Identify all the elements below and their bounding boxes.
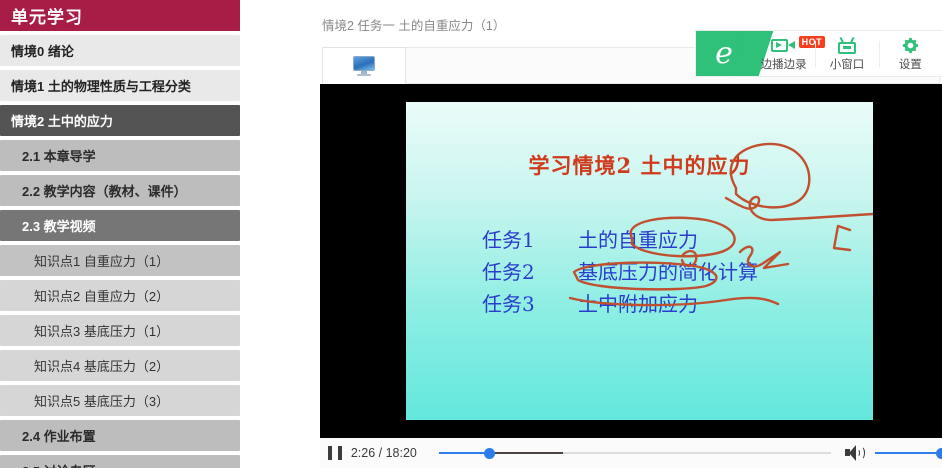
time-display: 2:26 / 18:20	[351, 446, 417, 460]
browser-brand-logo[interactable]: e	[696, 31, 752, 76]
slide-task-number: 任务3	[482, 288, 578, 320]
sidebar-item-3[interactable]: 2.1 本章导学	[0, 140, 240, 171]
toolbar-label-settings: 设置	[899, 56, 922, 72]
progress-buffer	[489, 452, 563, 454]
sidebar-item-label: 知识点1 自重应力（1）	[34, 251, 169, 270]
sidebar-item-0[interactable]: 情境0 绪论	[0, 35, 240, 66]
toolbar-item-settings[interactable]: 设置	[879, 31, 942, 76]
toolbar-item-mini-window[interactable]: 小窗口	[815, 31, 878, 76]
sidebar-item-label: 情境2 土中的应力	[11, 111, 113, 130]
sidebar-item-8[interactable]: 知识点3 基底压力（1）	[0, 315, 240, 346]
slide-task-row: 任务3土中附加应力	[482, 288, 758, 320]
video-player-stage[interactable]: 学习情境2 土中的应力 任务1土的自重应力任务2基底压力的简化计算任务3土中附加…	[320, 84, 942, 438]
sidebar-item-label: 2.3 教学视频	[22, 216, 96, 235]
sidebar-item-label: 知识点4 基底压力（2）	[34, 356, 169, 375]
breadcrumb: 情境2 任务一 土的自重应力（1）	[322, 15, 505, 34]
video-camera-icon: HOT	[771, 37, 797, 54]
sidebar-item-12[interactable]: 2.5 讨论专区	[0, 455, 240, 468]
sidebar-item-label: 情境0 绪论	[11, 41, 74, 60]
tab-video-player[interactable]	[322, 47, 406, 84]
sidebar-item-label: 2.1 本章导学	[22, 146, 96, 165]
slide-title: 学习情境2 土中的应力	[406, 150, 873, 180]
e-logo-icon: e	[715, 39, 733, 69]
toolbar-label-mini-window: 小窗口	[830, 56, 865, 72]
sidebar-item-1[interactable]: 情境1 土的物理性质与工程分类	[0, 70, 240, 101]
sidebar-item-label: 2.2 教学内容（教材、课件）	[22, 181, 187, 200]
slide-task-number: 任务1	[482, 224, 578, 256]
sidebar-title: 单元学习	[0, 0, 240, 31]
sidebar-item-11[interactable]: 2.4 作业布置	[0, 420, 240, 451]
slide-task-text: 土中附加应力	[578, 288, 698, 320]
volume-slider[interactable]	[875, 446, 942, 460]
page-root: 单元学习 情境0 绪论情境1 土的物理性质与工程分类情境2 土中的应力2.1 本…	[0, 0, 942, 468]
slide-task-number: 任务2	[482, 256, 578, 288]
lecture-slide: 学习情境2 土中的应力 任务1土的自重应力任务2基底压力的简化计算任务3土中附加…	[406, 102, 873, 420]
progress-slider[interactable]	[439, 446, 827, 460]
volume-handle[interactable]	[936, 448, 942, 459]
sidebar-item-list: 情境0 绪论情境1 土的物理性质与工程分类情境2 土中的应力2.1 本章导学2.…	[0, 31, 240, 468]
slide-task-list: 任务1土的自重应力任务2基底压力的简化计算任务3土中附加应力	[482, 224, 758, 320]
slide-task-text: 基底压力的简化计算	[578, 256, 758, 288]
player-control-bar: 2:26 / 18:20	[320, 438, 942, 468]
sidebar-item-label: 2.5 讨论专区	[22, 461, 96, 468]
sidebar-item-5[interactable]: 2.3 教学视频	[0, 210, 240, 241]
gear-icon	[901, 37, 920, 54]
sidebar-item-label: 情境1 土的物理性质与工程分类	[11, 76, 191, 95]
sidebar-item-10[interactable]: 知识点5 基底压力（3）	[0, 385, 240, 416]
slide-task-row: 任务2基底压力的简化计算	[482, 256, 758, 288]
toolbar-label-record: 边播边录	[761, 56, 807, 72]
pause-icon[interactable]	[328, 446, 342, 460]
sidebar: 单元学习 情境0 绪论情境1 土的物理性质与工程分类情境2 土中的应力2.1 本…	[0, 0, 240, 468]
sidebar-item-label: 知识点3 基底压力（1）	[34, 321, 169, 340]
toolbar-item-record[interactable]: HOT 边播边录	[752, 31, 815, 76]
sidebar-item-4[interactable]: 2.2 教学内容（教材、课件）	[0, 175, 240, 206]
slide-task-text: 土的自重应力	[578, 224, 698, 256]
monitor-icon	[353, 56, 375, 76]
speaker-icon[interactable]	[845, 445, 863, 461]
sidebar-item-7[interactable]: 知识点2 自重应力（2）	[0, 280, 240, 311]
slide-task-row: 任务1土的自重应力	[482, 224, 758, 256]
tv-window-icon	[837, 37, 857, 54]
toolbar-items: HOT 边播边录 小窗口 设置	[752, 31, 942, 76]
sidebar-item-label: 2.4 作业布置	[22, 426, 96, 445]
sidebar-item-label: 知识点5 基底压力（3）	[34, 391, 169, 410]
sidebar-item-2[interactable]: 情境2 土中的应力	[0, 105, 240, 136]
progress-fill	[439, 452, 489, 454]
progress-handle[interactable]	[484, 448, 495, 459]
sidebar-item-label: 知识点2 自重应力（2）	[34, 286, 169, 305]
browser-toolbar: e HOT 边播边录 小窗口	[695, 30, 942, 77]
sidebar-item-9[interactable]: 知识点4 基底压力（2）	[0, 350, 240, 381]
volume-track	[875, 452, 942, 454]
sidebar-item-6[interactable]: 知识点1 自重应力（1）	[0, 245, 240, 276]
